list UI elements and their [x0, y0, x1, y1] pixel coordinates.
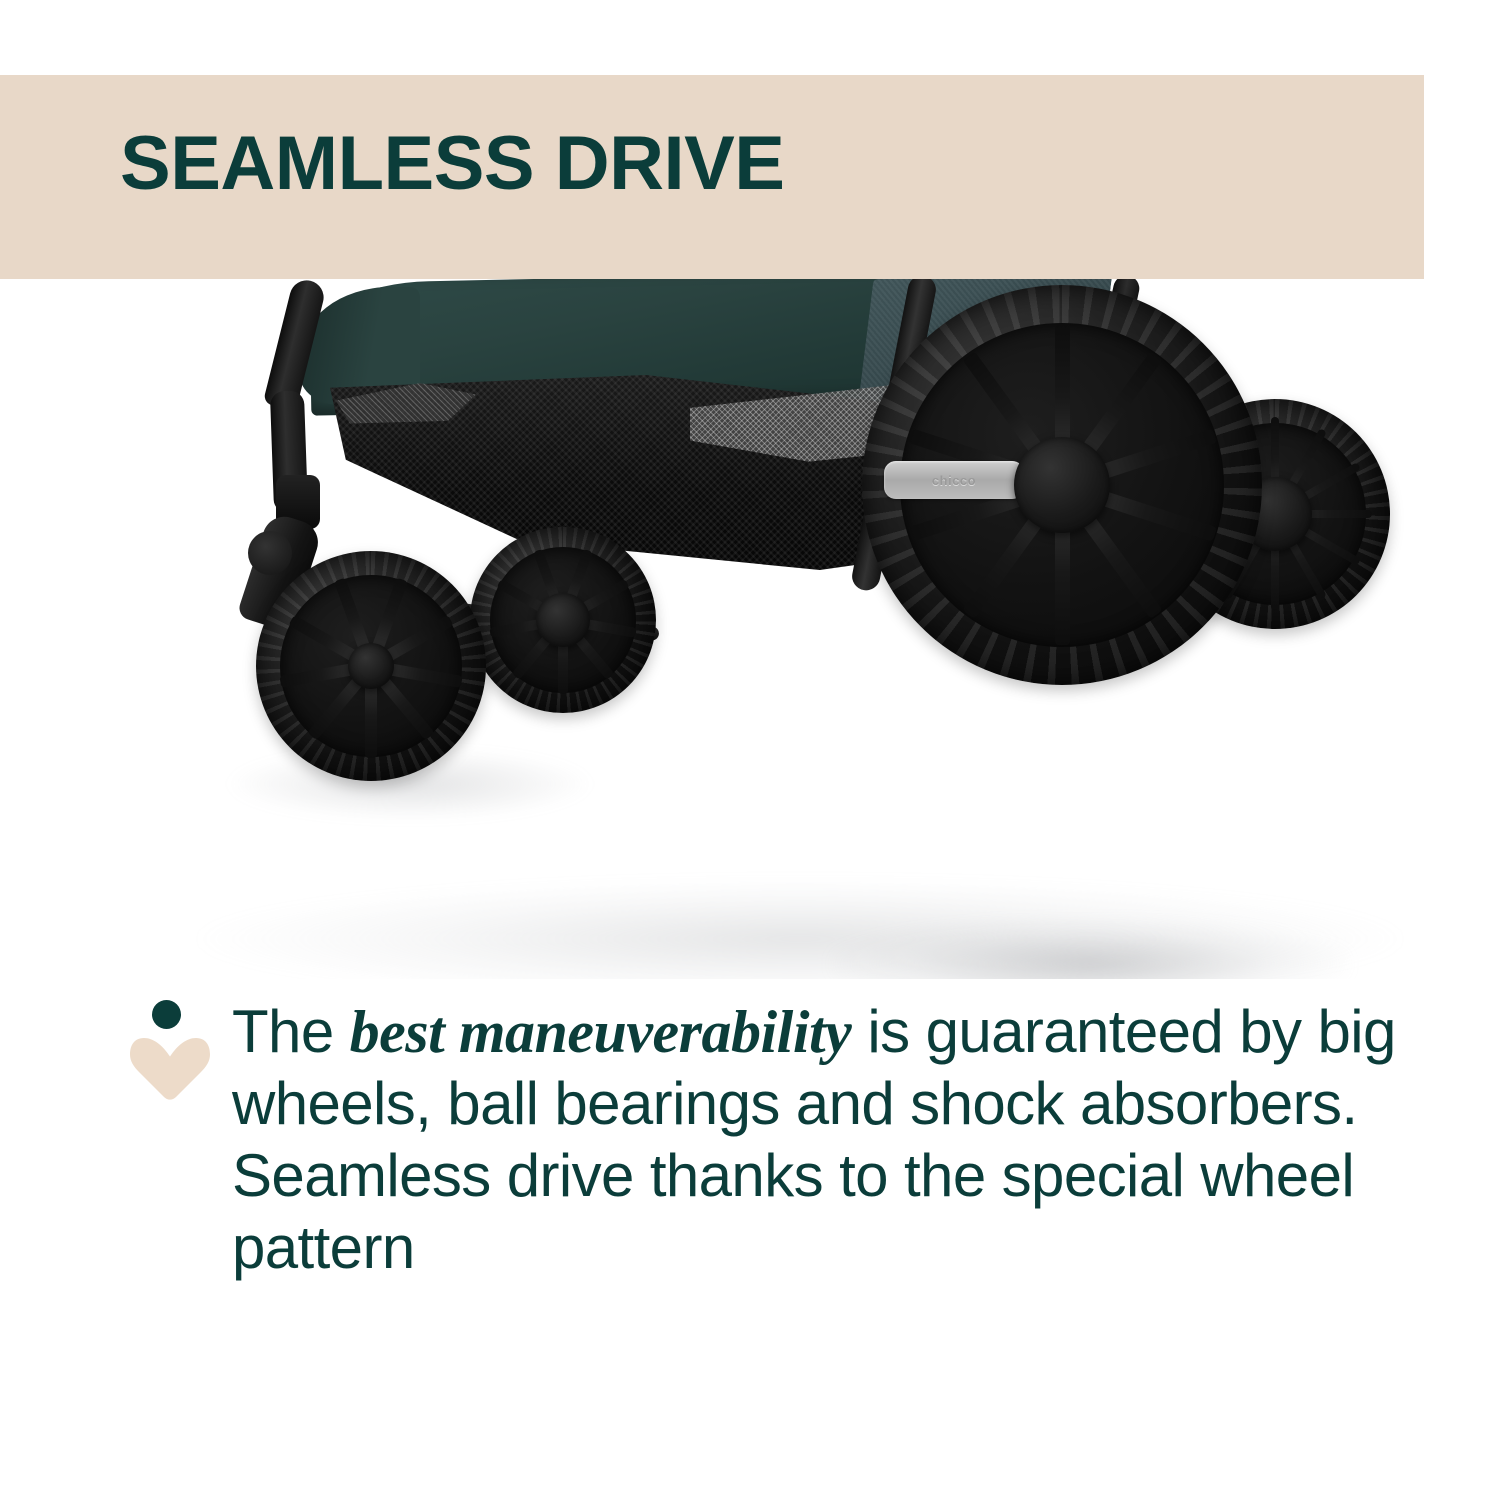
front-swivel-wheel — [256, 551, 486, 781]
wheel-hub — [348, 643, 394, 689]
rear-wheel-mid — [470, 527, 656, 713]
caption-paragraph: The best maneuverability is guaranteed b… — [232, 996, 1412, 1284]
heart-icon-shape — [128, 1036, 212, 1105]
swivel-fork-cap — [248, 531, 292, 575]
wheel-hub — [536, 593, 590, 647]
marketing-slide: SEAMLESS DRIVE — [0, 0, 1500, 1500]
caption-emphasis: best maneuverability — [350, 999, 852, 1065]
floor-shadow-big-wheel — [830, 919, 1350, 979]
product-photo: chicco — [0, 279, 1500, 979]
chicco-wheel-badge-label: chicco — [932, 473, 976, 488]
wheel-hub — [1014, 437, 1110, 533]
heart-icon-dot — [152, 1000, 181, 1029]
caption-lead: The — [232, 998, 350, 1065]
rear-wheel-main: chicco — [862, 285, 1262, 685]
chicco-heart-icon — [128, 1000, 212, 1105]
page-title: SEAMLESS DRIVE — [120, 126, 784, 202]
chicco-wheel-badge: chicco — [884, 461, 1024, 499]
